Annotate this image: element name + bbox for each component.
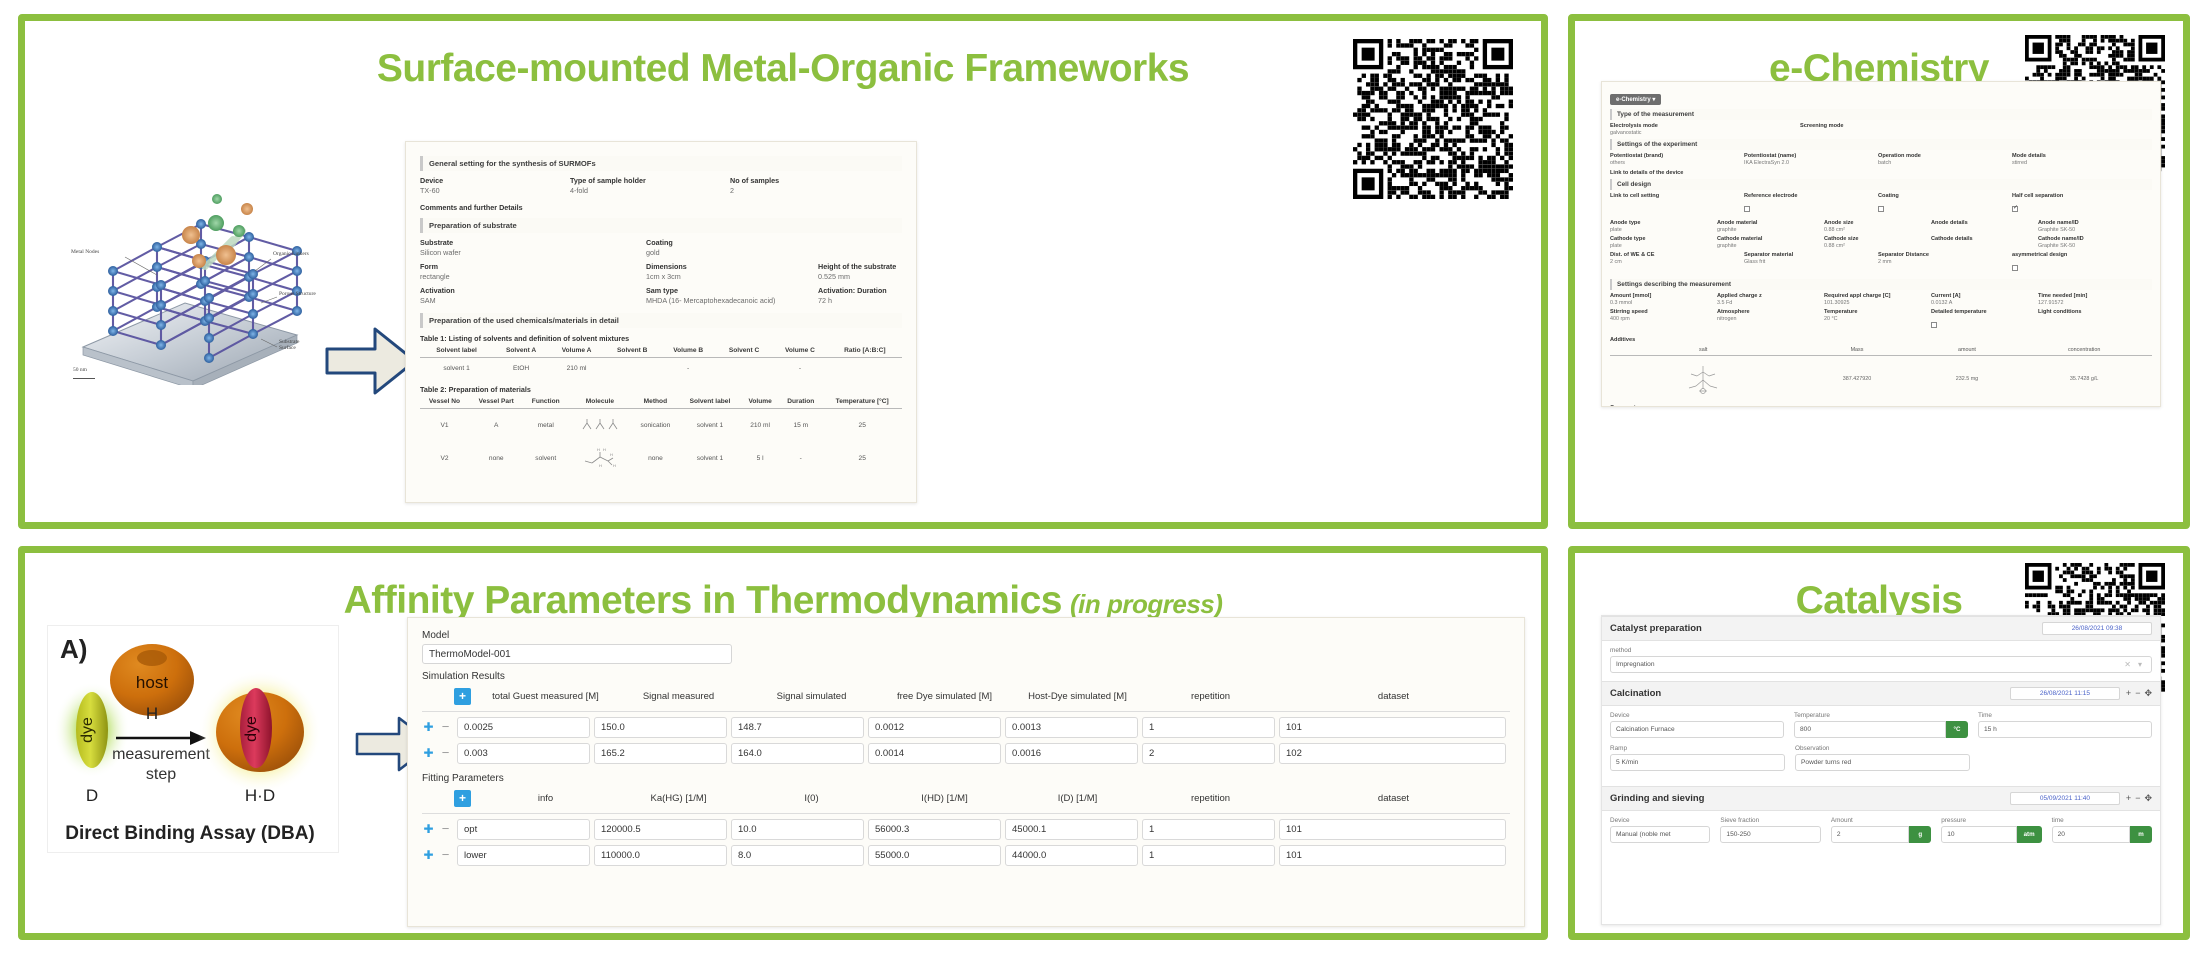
- checkbox-detailed-temperature[interactable]: [1931, 322, 1937, 328]
- surmof-illustration-svg: [65, 135, 310, 385]
- th-method: Method: [632, 396, 679, 409]
- label-anode-material: Anode material: [1717, 220, 1824, 226]
- label-porous-structure: Porous Structure: [279, 291, 316, 297]
- arrow-right-icon: [325, 315, 417, 407]
- drag-handle-icon[interactable]: ✚: [422, 823, 435, 836]
- th-temperature: Temperature [°C]: [822, 396, 902, 409]
- cell-id[interactable]: 44000.0: [1005, 845, 1138, 866]
- observation-input[interactable]: Powder turns red: [1795, 754, 1970, 771]
- label-organic-linkers: Organic Linkers: [273, 251, 309, 257]
- grinding-sieving-body: Device Manual (noble met Sieve fraction …: [1602, 811, 2160, 858]
- th-ratio: Ratio [A:B:C]: [828, 345, 902, 358]
- cell-repetition-fit[interactable]: 1: [1142, 845, 1275, 866]
- cell-vessel-part: none: [469, 441, 524, 475]
- th-function: Function: [524, 396, 568, 409]
- panel-surmof-title: Surface-mounted Metal-Organic Frameworks: [25, 47, 1541, 91]
- value-electrolysis-mode: galvanostatic: [1610, 130, 1800, 136]
- sieve-fraction-input[interactable]: 150-250: [1720, 826, 1820, 843]
- remove-row-button[interactable]: −: [439, 823, 452, 836]
- svg-text:H: H: [610, 452, 613, 457]
- remove-row-button[interactable]: −: [439, 849, 452, 862]
- label-link-cell-setting[interactable]: Link to cell setting: [1610, 193, 1744, 199]
- cell-i0[interactable]: 8.0: [731, 845, 864, 866]
- panel-echemistry: e-Chemistry e-Chemistry ▾ Type of the me…: [1568, 14, 2190, 529]
- calcination-temperature-group: 800 °C: [1794, 721, 1968, 738]
- section-calcination: Calcination 26/08/2021 11:15 + − ✥: [1602, 681, 2160, 706]
- label-cathode-type: Cathode type: [1610, 236, 1717, 242]
- table-row: ✚ − 0.003 165.2 164.0 0.0014 0.0016 2 10…: [422, 743, 1510, 764]
- cell-ratio: [828, 358, 902, 380]
- section-comments: Comments and further Details: [420, 203, 902, 212]
- remove-icon[interactable]: −: [2135, 688, 2140, 699]
- panel-affinity-title-main: Affinity Parameters in Thermodynamics: [344, 579, 1062, 622]
- affinity-body: A) dye D host H measurement step: [25, 617, 1541, 937]
- label-separator-distance: Separator Distance: [1878, 252, 2012, 258]
- th-info: info: [479, 793, 612, 804]
- cell-total-guest[interactable]: 0.003: [457, 743, 590, 764]
- label-no-samples: No of samples: [730, 176, 779, 185]
- th-repetition-fit: repetition: [1144, 793, 1277, 804]
- checkbox-asymmetrical-design[interactable]: [2012, 265, 2018, 271]
- table2-header-row: Vessel No Vessel Part Function Molecule …: [420, 396, 902, 409]
- label-anode-type: Anode type: [1610, 220, 1717, 226]
- row-amounts: Amount [mmol]0.3 mmol Applied charge z3.…: [1610, 293, 2152, 306]
- row-potentiostat: Potentiostat (brand) others Potentiostat…: [1610, 153, 2152, 166]
- grinding-amount-input[interactable]: 2: [1831, 826, 1909, 843]
- value-stirring-speed: 400 rpm: [1610, 316, 1717, 322]
- label-ramp: Ramp: [1610, 745, 1785, 752]
- svg-text:dye: dye: [79, 717, 96, 743]
- cell-molecule: HH HHH: [568, 441, 632, 475]
- label-atmosphere: Atmosphere: [1717, 309, 1824, 315]
- label-required-charge: Required appl charge [C]: [1824, 293, 1931, 299]
- value-temperature: 20 °C: [1824, 316, 1931, 322]
- label-anode-size: Anode size: [1824, 220, 1931, 226]
- th-molecule: Molecule: [568, 396, 632, 409]
- drag-handle-icon[interactable]: ✥: [2144, 793, 2152, 804]
- label-additives: Additives: [1610, 337, 2152, 343]
- model-input[interactable]: ThermoModel-001: [422, 644, 732, 664]
- calcination-body: Device Calcination Furnace Temperature 8…: [1602, 706, 2160, 786]
- value-operation-mode: batch: [1878, 160, 2012, 166]
- grinding-row: Device Manual (noble met Sieve fraction …: [1610, 817, 2152, 843]
- label-observation: Observation: [1795, 745, 1970, 752]
- value-form: rectangle: [420, 272, 646, 281]
- value-mode-details: stirred: [2012, 160, 2046, 166]
- value-substrate: Silicon wafer: [420, 248, 646, 257]
- catalyst-preparation-title: Catalyst preparation: [1610, 623, 1702, 634]
- value-substrate-height: 0.525 mm: [818, 272, 896, 281]
- cell-signal-simulated[interactable]: 148.7: [731, 717, 864, 738]
- label-cathode-size: Cathode size: [1824, 236, 1931, 242]
- calcination-time-input[interactable]: 15 h: [1978, 721, 2152, 738]
- cell-volume: 210 ml: [741, 409, 779, 442]
- cell-signal-simulated[interactable]: 164.0: [731, 743, 864, 764]
- label-sample-holder: Type of sample holder: [570, 176, 730, 185]
- th-dataset-fit: dataset: [1277, 793, 1510, 804]
- cell-volume-a: 210 ml: [549, 358, 604, 380]
- cell-repetition[interactable]: 2: [1142, 743, 1275, 764]
- cell-info[interactable]: opt: [457, 819, 590, 840]
- value-separator-distance: 2 mm: [1878, 259, 2012, 265]
- catalysis-form-card: Catalyst preparation 26/08/2021 09:38 me…: [1601, 615, 2161, 925]
- remove-row-button[interactable]: −: [439, 747, 452, 760]
- cell-temperature: 25: [822, 409, 902, 442]
- cell-signal-measured[interactable]: 165.2: [594, 743, 727, 764]
- cell-salt-molecule: [1610, 356, 1796, 403]
- cell-volume-c: -: [772, 358, 827, 380]
- value-activation-duration: 72 h: [818, 296, 887, 305]
- label-metal-nodes: Metal Nodes: [71, 249, 99, 255]
- label-cathode-name-id: Cathode name/ID: [2038, 236, 2084, 242]
- label-coating: Coating: [646, 238, 673, 247]
- cell-temperature: 25: [822, 441, 902, 475]
- cell-duration: -: [779, 441, 822, 475]
- svg-text:Direct Binding Assay (DBA): Direct Binding Assay (DBA): [65, 823, 315, 844]
- panel-affinity-title-suffix: (in progress): [1070, 589, 1222, 619]
- value-required-charge: 101.30925: [1824, 300, 1931, 306]
- remove-icon[interactable]: −: [2135, 793, 2140, 804]
- th-solvent-c: Solvent C: [716, 345, 772, 358]
- method-select[interactable]: Impregnation ✕ ▾: [1610, 656, 2152, 673]
- label-form: Form: [420, 262, 646, 271]
- label-stirring-speed: Stirring speed: [1610, 309, 1717, 315]
- cell-amount: 232.5 mg: [1918, 356, 2017, 403]
- cell-host-dye[interactable]: 0.0013: [1005, 717, 1138, 738]
- panel-surmof: Surface-mounted Metal-Organic Frameworks: [18, 14, 1548, 529]
- cell-ka-hg[interactable]: 120000.5: [594, 819, 727, 840]
- add-fitting-row-button[interactable]: +: [454, 790, 471, 807]
- label-substrate: Substrate: [420, 238, 646, 247]
- label-half-cell-separation: Half cell separation: [2012, 193, 2063, 199]
- svg-text:H: H: [146, 704, 158, 723]
- label-activation: Activation: [420, 286, 646, 295]
- label-dist-we-ce: Dist. of WE & CE: [1610, 252, 1744, 258]
- cell-repetition[interactable]: 1: [1142, 717, 1275, 738]
- chevron-down-icon[interactable]: ▾: [2138, 660, 2142, 669]
- calcination-controls: + − ✥: [2126, 688, 2152, 699]
- grinding-time-unit[interactable]: m: [2130, 826, 2152, 843]
- svg-text:measurement: measurement: [112, 746, 210, 763]
- label-fitting-parameters: Fitting Parameters: [422, 773, 1510, 784]
- scale-bar-line: [73, 378, 95, 379]
- th-salt: salt: [1610, 345, 1796, 356]
- cell-solvent-a: EtOH: [493, 358, 549, 380]
- value-atmosphere: nitrogen: [1717, 316, 1824, 322]
- value-anode-size: 0.88 cm²: [1824, 227, 1931, 233]
- label-method: method: [1610, 647, 2152, 654]
- table-solvents: Solvent label Solvent A Volume A Solvent…: [420, 345, 902, 379]
- th-duration: Duration: [779, 396, 822, 409]
- table-row: 387.427920 232.5 mg 35.7428 g/L: [1610, 356, 2152, 403]
- value-anode-material: graphite: [1717, 227, 1824, 233]
- section-grinding-sieving: Grinding and sieving 05/09/2021 11:40 + …: [1602, 786, 2160, 811]
- cell-solvent-b: [604, 358, 660, 380]
- svg-text:H·D: H·D: [245, 786, 275, 805]
- surmof-illustration: Metal Nodes Organic Linkers Porous Struc…: [65, 135, 310, 385]
- pressure-group: 10 atm: [1941, 826, 2041, 843]
- th-solvent-a: Solvent A: [493, 345, 549, 358]
- svg-text:H: H: [599, 463, 602, 468]
- th-signal-measured: Signal measured: [612, 691, 745, 702]
- label-pressure: pressure: [1941, 817, 2041, 824]
- cell-total-guest[interactable]: 0.0025: [457, 717, 590, 738]
- label-dimensions: Dimensions: [646, 262, 818, 271]
- divider: [422, 813, 1510, 814]
- label-mode-details: Mode details: [2012, 153, 2046, 159]
- label-substrate-surface: Substrate Surface: [279, 339, 313, 351]
- value-dimensions: 1cm x 3cm: [646, 272, 818, 281]
- cell-ihd[interactable]: 55000.0: [868, 845, 1001, 866]
- cell-solvent-c: [716, 358, 772, 380]
- calcination-device-input[interactable]: Calcination Furnace: [1610, 721, 1784, 738]
- th-host-dye: Host-Dye simulated [M]: [1011, 691, 1144, 702]
- table-row: solvent 1 EtOH 210 ml - -: [420, 358, 902, 380]
- grinding-device-input[interactable]: Manual (noble met: [1610, 826, 1710, 843]
- cell-dataset[interactable]: 102: [1279, 743, 1506, 764]
- grinding-sieving-date[interactable]: 05/09/2021 11:40: [2010, 792, 2120, 805]
- th-solvent-label-2: Solvent label: [679, 396, 741, 409]
- echemistry-document-card: e-Chemistry ▾ Type of the measurement El…: [1601, 81, 2161, 407]
- row-measurement: Electrolysis mode galvanostatic Screenin…: [1610, 123, 2152, 136]
- section-catalyst-preparation: Catalyst preparation 26/08/2021 09:38: [1602, 616, 2160, 641]
- grinding-time-input[interactable]: 20: [2052, 826, 2130, 843]
- pressure-unit[interactable]: atm: [2017, 826, 2042, 843]
- add-icon[interactable]: +: [2126, 688, 2131, 699]
- value-coating: gold: [646, 248, 673, 257]
- cell-ihd[interactable]: 56000.3: [868, 819, 1001, 840]
- value-device: TX-60: [420, 186, 570, 195]
- add-icon[interactable]: +: [2126, 793, 2131, 804]
- svg-text:A): A): [60, 634, 87, 664]
- value-anode-name-id: Graphite SK-50: [2038, 227, 2079, 233]
- calcination-temperature-unit[interactable]: °C: [1946, 721, 1968, 738]
- th-volume-b: Volume B: [660, 345, 715, 358]
- value-sam-type: MHDA (16- Mercaptohexadecanoic acid): [646, 296, 818, 305]
- th-mass: Mass: [1796, 345, 1917, 356]
- cell-solvent-label-2: solvent 1: [679, 409, 741, 442]
- cell-repetition-fit[interactable]: 1: [1142, 819, 1275, 840]
- row-separator: Dist. of WE & CE2 cm Separator materialG…: [1610, 252, 2152, 276]
- grinding-sieving-title: Grinding and sieving: [1610, 793, 1704, 804]
- ramp-input[interactable]: 5 K/min: [1610, 754, 1785, 771]
- checkbox-half-cell-separation[interactable]: [2012, 206, 2018, 212]
- th-i0: I(0): [745, 793, 878, 804]
- label-potentiostat-brand: Potentiostat (brand): [1610, 153, 1744, 159]
- label-applied-charge-z: Applied charge z: [1717, 293, 1824, 299]
- th-dataset: dataset: [1277, 691, 1510, 702]
- th-concentration: concentration: [2016, 345, 2152, 356]
- cell-vessel-no: V1: [420, 409, 469, 442]
- remove-row-button[interactable]: −: [439, 721, 452, 734]
- section-settings-measurement: Settings describing the measurement: [1610, 279, 2152, 290]
- calcination-row-1: Device Calcination Furnace Temperature 8…: [1610, 712, 2152, 738]
- label-link-device[interactable]: Link to details of the device: [1610, 170, 2152, 176]
- label-cathode-details: Cathode details: [1931, 236, 2038, 242]
- row-conditions: Stirring speed400 rpm Atmospherenitrogen…: [1610, 309, 2152, 333]
- dba-illustration-svg: A) dye D host H measurement step: [48, 626, 338, 852]
- molecule-sketch-icon: [1680, 362, 1726, 396]
- calcination-date[interactable]: 26/08/2021 11:15: [2010, 687, 2120, 700]
- catalyst-preparation-date[interactable]: 26/08/2021 09:38: [2042, 622, 2152, 635]
- cell-solvent-label-2: solvent 1: [679, 441, 741, 475]
- th-free-dye: free Dye simulated [M]: [878, 691, 1011, 702]
- th-vessel-no: Vessel No: [420, 396, 469, 409]
- cell-host-dye[interactable]: 0.0016: [1005, 743, 1138, 764]
- drag-handle-icon[interactable]: ✚: [422, 849, 435, 862]
- molecule-sketch-icon: HH HHH: [579, 448, 621, 468]
- section-prep-substrate: Preparation of substrate: [420, 218, 902, 233]
- surmof-document-card: General setting for the synthesis of SUR…: [405, 141, 917, 503]
- value-cathode-size: 0.88 cm²: [1824, 243, 1931, 249]
- panel-catalysis: Catalysis Catalyst preparation 26/08/202…: [1568, 546, 2190, 940]
- grinding-amount-unit[interactable]: g: [1909, 826, 1931, 843]
- panel-affinity: Affinity Parameters in Thermodynamics(in…: [18, 546, 1548, 940]
- cell-function: solvent: [524, 441, 568, 475]
- table2-caption: Table 2: Preparation of materials: [420, 385, 902, 394]
- cell-molecule: [568, 409, 632, 442]
- label-calcination-time: Time: [1978, 712, 2152, 719]
- label-comments: Comments: [1610, 405, 2152, 407]
- affinity-form-card: Model ThermoModel-001 Simulation Results…: [407, 617, 1525, 927]
- cell-function: metal: [524, 409, 568, 442]
- value-anode-type: plate: [1610, 227, 1717, 233]
- th-volume: Volume: [741, 396, 779, 409]
- field-row-activation: Activation SAM Sam type MHDA (16- Mercap…: [420, 286, 902, 305]
- label-device: Device: [420, 176, 570, 185]
- cell-duration: 15 m: [779, 409, 822, 442]
- calcination-temperature-input[interactable]: 800: [1794, 721, 1946, 738]
- cell-signal-measured[interactable]: 150.0: [594, 717, 727, 738]
- calcination-title: Calcination: [1610, 688, 1661, 699]
- label-simulation-results: Simulation Results: [422, 671, 1510, 682]
- cell-info[interactable]: lower: [457, 845, 590, 866]
- add-simulation-row-button[interactable]: +: [454, 688, 471, 705]
- table-row: ✚ − 0.0025 150.0 148.7 0.0012 0.0013 1 1…: [422, 717, 1510, 738]
- molecule-sketch-icon: [579, 416, 621, 434]
- grinding-sieving-controls: + − ✥: [2126, 793, 2152, 804]
- value-potentiostat-name: IKA ElectraSyn 2.0: [1744, 160, 1878, 166]
- catalyst-preparation-body: method Impregnation ✕ ▾: [1602, 641, 2160, 681]
- th-ihd: I(HD) [1/M]: [878, 793, 1011, 804]
- dba-illustration: A) dye D host H measurement step: [47, 625, 339, 853]
- label-screening-mode: Screening mode: [1800, 123, 1844, 129]
- cell-dataset-fit[interactable]: 101: [1279, 845, 1506, 866]
- label-potentiostat-name: Potentiostat (name): [1744, 153, 1878, 159]
- label-anode-name-id: Anode name/ID: [2038, 220, 2079, 226]
- label-anode-details: Anode details: [1931, 220, 2038, 226]
- cell-solvent-label: solvent 1: [420, 358, 493, 380]
- table1-caption: Table 1: Listing of solvents and definit…: [420, 334, 902, 343]
- svg-text:H: H: [597, 448, 600, 452]
- tag-echemistry[interactable]: e-Chemistry ▾: [1610, 94, 1661, 105]
- value-applied-charge-z: 3.5 Fd: [1717, 300, 1824, 306]
- value-sample-holder: 4-fold: [570, 186, 730, 195]
- pressure-input[interactable]: 10: [1941, 826, 2016, 843]
- drag-handle-icon[interactable]: ✥: [2144, 688, 2152, 699]
- cell-concentration: 35.7428 g/L: [2016, 356, 2152, 403]
- cell-volume: 5 l: [741, 441, 779, 475]
- checkbox-coating[interactable]: [1878, 206, 1884, 212]
- label-coating: Coating: [1878, 193, 2012, 199]
- cell-ka-hg[interactable]: 110000.0: [594, 845, 727, 866]
- th-volume-c: Volume C: [772, 345, 827, 358]
- row-anode: Anode typeplate Anode materialgraphite A…: [1610, 220, 2152, 233]
- label-grinding-device: Device: [1610, 817, 1710, 824]
- table-row: ✚ − lower 110000.0 8.0 55000.0 44000.0 1…: [422, 845, 1510, 866]
- svg-text:host: host: [136, 673, 168, 692]
- label-sam-type: Sam type: [646, 286, 818, 295]
- clear-icon[interactable]: ✕: [2124, 660, 2131, 669]
- row-cell-design: Link to cell setting Reference electrode…: [1610, 193, 2152, 217]
- label-electrolysis-mode: Electrolysis mode: [1610, 123, 1800, 129]
- grinding-amount-group: 2 g: [1831, 826, 1931, 843]
- field-row-device: Device TX-60 Type of sample holder 4-fol…: [420, 176, 902, 195]
- value-activation: SAM: [420, 296, 646, 305]
- row-cathode: Cathode typeplate Cathode materialgraphi…: [1610, 236, 2152, 249]
- cell-free-dye[interactable]: 0.0012: [868, 717, 1001, 738]
- cell-method: sonication: [632, 409, 679, 442]
- drag-handle-icon[interactable]: ✚: [422, 747, 435, 760]
- poster-root: Surface-mounted Metal-Organic Frameworks: [0, 0, 2208, 955]
- fitting-header-row: + info Ka(HG) [1/M] I(0) I(HD) [1/M] I(D…: [422, 790, 1510, 807]
- cell-dataset-fit[interactable]: 101: [1279, 819, 1506, 840]
- drag-handle-icon[interactable]: ✚: [422, 721, 435, 734]
- label-asymmetrical-design: asymmetrical design: [2012, 252, 2067, 258]
- table1-header-row: Solvent label Solvent A Volume A Solvent…: [420, 345, 902, 358]
- label-operation-mode: Operation mode: [1878, 153, 2012, 159]
- value-cathode-material: graphite: [1717, 243, 1824, 249]
- table-additives: salt Mass amount concentration: [1610, 345, 2152, 402]
- section-cell-design: Cell design: [1610, 179, 2152, 190]
- cell-dataset[interactable]: 101: [1279, 717, 1506, 738]
- method-value: Impregnation: [1616, 661, 1655, 668]
- label-reference-electrode: Reference electrode: [1744, 193, 1878, 199]
- cell-method: none: [632, 441, 679, 475]
- label-amount-mmol: Amount [mmol]: [1610, 293, 1717, 299]
- divider: [422, 711, 1510, 712]
- th-vessel-part: Vessel Part: [469, 396, 524, 409]
- svg-text:dye: dye: [243, 716, 260, 742]
- value-potentiostat-brand: others: [1610, 160, 1744, 166]
- label-light-conditions: Light conditions: [2038, 309, 2082, 315]
- table-materials: Vessel No Vessel Part Function Molecule …: [420, 396, 902, 475]
- th-id: I(D) [1/M]: [1011, 793, 1144, 804]
- cell-free-dye[interactable]: 0.0014: [868, 743, 1001, 764]
- value-separator-material: Glass frit: [1744, 259, 1878, 265]
- cell-i0[interactable]: 10.0: [731, 819, 864, 840]
- cell-volume-b: -: [660, 358, 715, 380]
- th-solvent-b: Solvent B: [604, 345, 660, 358]
- svg-text:step: step: [146, 766, 176, 783]
- value-current-a: 0.0132 A: [1931, 300, 2038, 306]
- th-volume-a: Volume A: [549, 345, 604, 358]
- section-settings-experiment: Settings of the experiment: [1610, 139, 2152, 150]
- label-calcination-device: Device: [1610, 712, 1784, 719]
- value-amount-mmol: 0.3 mmol: [1610, 300, 1717, 306]
- section-general-setting: General setting for the synthesis of SUR…: [420, 156, 902, 171]
- checkbox-reference-electrode[interactable]: [1744, 206, 1750, 212]
- table-row: V1 A metal: [420, 409, 902, 442]
- value-no-samples: 2: [730, 186, 779, 195]
- cell-vessel-part: A: [469, 409, 524, 442]
- th-amount: amount: [1918, 345, 2017, 356]
- calcination-row-2: Ramp 5 K/min Observation Powder turns re…: [1610, 745, 2152, 771]
- th-solvent-label: Solvent label: [420, 345, 493, 358]
- label-calcination-temperature: Temperature: [1794, 712, 1968, 719]
- method-select-controls: ✕ ▾: [2124, 660, 2146, 669]
- cell-id[interactable]: 45000.1: [1005, 819, 1138, 840]
